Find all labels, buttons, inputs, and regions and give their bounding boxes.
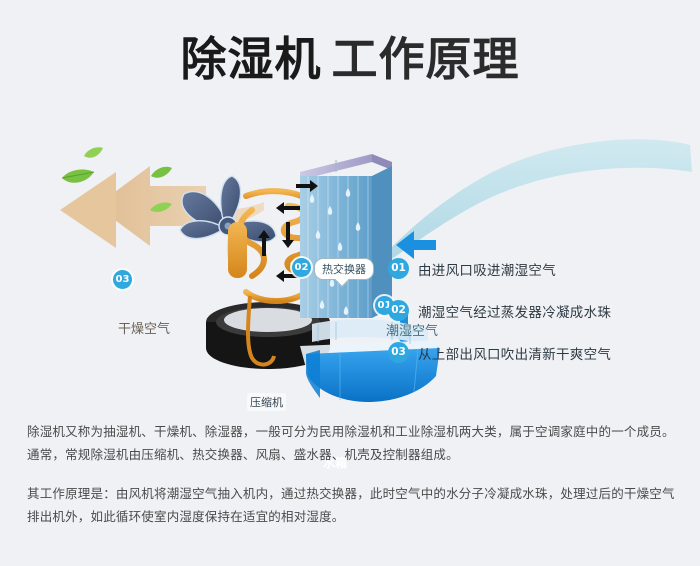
page-title-part2: 工作原理 — [332, 32, 520, 86]
diagram-marker-02: 02 — [292, 258, 311, 277]
step-item-03: 03 从上部出风口吹出清新干爽空气 — [388, 342, 688, 363]
body-paragraph-2: 其工作原理是：由风机将潮湿空气抽入机内，通过热交换器，此时空气中的水分子冷凝成水… — [27, 482, 677, 528]
step-text-03: 从上部出风口吹出清新干爽空气 — [418, 343, 611, 363]
page-title: 除湿机工作原理 — [0, 32, 700, 87]
step-badge-01: 01 — [388, 258, 409, 279]
step-item-01: 01 由进风口吸进潮湿空气 — [388, 258, 688, 279]
diagram-marker-03: 03 — [113, 270, 132, 289]
step-item-02: 02 潮湿空气经过蒸发器冷凝成水珠 — [388, 300, 688, 321]
step-text-01: 由进风口吸进潮湿空气 — [418, 259, 556, 279]
body-copy: 除湿机又称为抽湿机、干燥机、除湿器，一般可分为民用除湿机和工业除湿机两大类，属于… — [27, 420, 677, 528]
accumulator-tank-icon — [228, 222, 247, 278]
page-title-part1: 除湿机 — [181, 32, 322, 86]
step-badge-03: 03 — [388, 342, 409, 363]
steps-legend: 01 由进风口吸进潮湿空气 02 潮湿空气经过蒸发器冷凝成水珠 03 从上部出风… — [388, 258, 688, 384]
body-paragraph-1: 除湿机又称为抽湿机、干燥机、除湿器，一般可分为民用除湿机和工业除湿机两大类，属于… — [27, 420, 677, 466]
heat-exchanger-callout: 热交换器 — [314, 258, 374, 280]
step-badge-02: 02 — [388, 300, 409, 321]
dry-air-label: 干燥空气 — [118, 318, 170, 337]
evaporator-block — [300, 154, 392, 318]
step-text-02: 潮湿空气经过蒸发器冷凝成水珠 — [418, 301, 611, 321]
compressor-label: 压缩机 — [247, 393, 286, 411]
